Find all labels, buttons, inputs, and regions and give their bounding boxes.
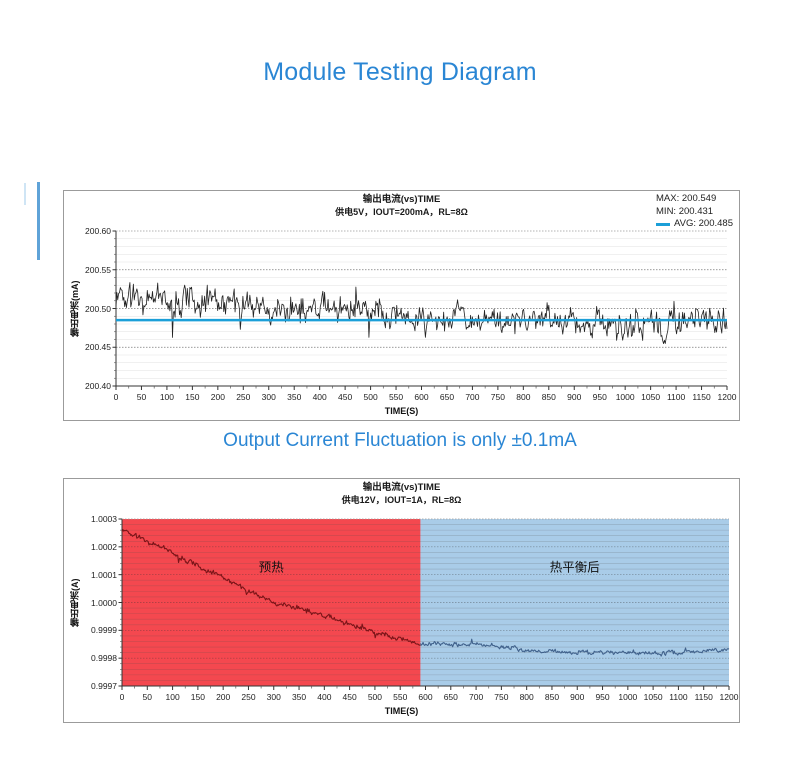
- chart-1-x-tick-label: 500: [363, 392, 377, 402]
- chart-1-x-tick-label: 600: [414, 392, 428, 402]
- chart-2-zone-label-0: 预热: [259, 556, 284, 575]
- chart-1-x-tick-label: 950: [593, 392, 607, 402]
- chart-1-x-tick-label: 850: [542, 392, 556, 402]
- chart-1-y-tick-label: 200.55: [85, 265, 111, 275]
- chart-2-x-tick-label: 1150: [695, 692, 713, 702]
- chart-1-x-tick-label: 1000: [616, 392, 635, 402]
- chart-1-y-tick-label: 200.60: [85, 226, 111, 236]
- chart-2-x-tick-label: 1200: [720, 692, 739, 702]
- chart-2-title: 输出电流(vs)TIME: [64, 481, 739, 494]
- chart-2-x-tick-label: 900: [570, 692, 584, 702]
- chart-2-svg: [64, 513, 739, 722]
- chart-2-plot-area: 输出电流(A)0.99970.99980.99991.00001.00011.0…: [64, 513, 739, 722]
- chart-2-x-tick-label: 500: [368, 692, 382, 702]
- decorative-rule-left-outer: [24, 183, 26, 205]
- chart-1-x-tick-label: 100: [160, 392, 174, 402]
- chart-2-y-tick-label: 1.0001: [91, 570, 117, 580]
- chart-1-x-tick-label: 700: [465, 392, 479, 402]
- chart-1-title: 输出电流(vs)TIME: [64, 193, 739, 206]
- chart-2-y-tick-label: 0.9997: [91, 681, 117, 691]
- chart-1-x-tick-label: 250: [236, 392, 250, 402]
- chart-1-x-tick-label: 800: [516, 392, 530, 402]
- chart-1-y-tick-label: 200.40: [85, 381, 111, 391]
- chart-1-x-tick-label: 550: [389, 392, 403, 402]
- chart-2-y-tick-label: 1.0003: [91, 514, 117, 524]
- page-title: Module Testing Diagram: [0, 58, 800, 87]
- chart-2-x-tick-label: 950: [595, 692, 609, 702]
- chart-2-x-tick-label: 550: [393, 692, 407, 702]
- chart-2-x-tick-label: 250: [241, 692, 255, 702]
- chart-2-header: 输出电流(vs)TIME 供电12V，IOUT=1A，RL=8Ω: [64, 479, 739, 513]
- chart-panel-current-5v: 输出电流(vs)TIME 供电5V，IOUT=200mA，RL=8Ω MAX: …: [63, 190, 740, 421]
- chart-1-x-axis-label: TIME(S): [64, 406, 739, 416]
- chart-2-x-tick-label: 400: [317, 692, 331, 702]
- chart-1-y-tick-label: 200.45: [85, 342, 111, 352]
- chart-1-x-tick-label: 900: [567, 392, 581, 402]
- chart-2-y-axis-label: 输出电流(A): [68, 519, 81, 686]
- chart-1-x-tick-label: 1150: [692, 392, 710, 402]
- chart-2-x-tick-label: 50: [143, 692, 152, 702]
- chart-panel-current-12v: 输出电流(vs)TIME 供电12V，IOUT=1A，RL=8Ω 输出电流(A)…: [63, 478, 740, 723]
- chart-1-x-tick-label: 1200: [718, 392, 737, 402]
- chart-1-x-tick-label: 300: [262, 392, 276, 402]
- chart-1-header: 输出电流(vs)TIME 供电5V，IOUT=200mA，RL=8Ω MAX: …: [64, 191, 739, 225]
- chart-1-y-tick-label: 200.50: [85, 304, 111, 314]
- chart-1-x-tick-label: 200: [211, 392, 225, 402]
- chart-1-x-tick-label: 1100: [667, 392, 685, 402]
- chart-1-svg: [64, 225, 739, 420]
- chart-1-plot-area: 输出电流(mA)200.40200.45200.50200.55200.6005…: [64, 225, 739, 420]
- chart-2-x-tick-label: 200: [216, 692, 230, 702]
- chart-1-x-tick-label: 50: [137, 392, 146, 402]
- chart-2-x-tick-label: 1100: [669, 692, 687, 702]
- chart-2-x-tick-label: 850: [545, 692, 559, 702]
- chart-2-x-tick-label: 700: [469, 692, 483, 702]
- chart-2-x-tick-label: 1000: [618, 692, 637, 702]
- chart-1-x-tick-label: 0: [114, 392, 119, 402]
- chart-1-subtitle: 供电5V，IOUT=200mA，RL=8Ω: [64, 206, 739, 219]
- chart-2-y-tick-label: 1.0002: [91, 542, 117, 552]
- chart-2-x-tick-label: 100: [165, 692, 179, 702]
- chart-1-y-axis-label: 输出电流(mA): [68, 231, 81, 386]
- chart-2-x-tick-label: 0: [120, 692, 125, 702]
- chart-2-x-tick-label: 300: [267, 692, 281, 702]
- chart-1-x-tick-label: 400: [313, 392, 327, 402]
- decorative-rule-left-inner: [37, 182, 40, 260]
- chart-2-x-tick-label: 450: [343, 692, 357, 702]
- chart-2-subtitle: 供电12V，IOUT=1A，RL=8Ω: [64, 494, 739, 507]
- chart-2-zone-label-1: 热平衡后: [550, 556, 600, 575]
- chart-2-y-tick-label: 0.9998: [91, 653, 117, 663]
- chart-1-x-tick-label: 150: [185, 392, 199, 402]
- chart-1-x-tick-label: 450: [338, 392, 352, 402]
- chart-1-titles: 输出电流(vs)TIME 供电5V，IOUT=200mA，RL=8Ω: [64, 193, 739, 219]
- chart-2-y-tick-label: 1.0000: [91, 598, 117, 608]
- chart-1-x-tick-label: 1050: [641, 392, 660, 402]
- chart-2-x-tick-label: 650: [444, 692, 458, 702]
- chart-2-x-tick-label: 1050: [644, 692, 663, 702]
- chart-2-x-tick-label: 800: [520, 692, 534, 702]
- fluctuation-caption: Output Current Fluctuation is only ±0.1m…: [0, 430, 800, 452]
- chart-2-titles: 输出电流(vs)TIME 供电12V，IOUT=1A，RL=8Ω: [64, 481, 739, 507]
- stat-min: MIN: 200.431: [656, 206, 733, 219]
- chart-2-x-axis-label: TIME(S): [64, 706, 739, 716]
- chart-2-x-tick-label: 750: [494, 692, 508, 702]
- chart-2-y-tick-label: 0.9999: [91, 625, 117, 635]
- chart-2-x-tick-label: 600: [418, 692, 432, 702]
- stat-max: MAX: 200.549: [656, 193, 733, 206]
- chart-1-x-tick-label: 650: [440, 392, 454, 402]
- chart-1-x-tick-label: 750: [491, 392, 505, 402]
- chart-1-x-tick-label: 350: [287, 392, 301, 402]
- chart-2-x-tick-label: 150: [191, 692, 205, 702]
- chart-2-x-tick-label: 350: [292, 692, 306, 702]
- chart-2-zone-1: [420, 519, 729, 686]
